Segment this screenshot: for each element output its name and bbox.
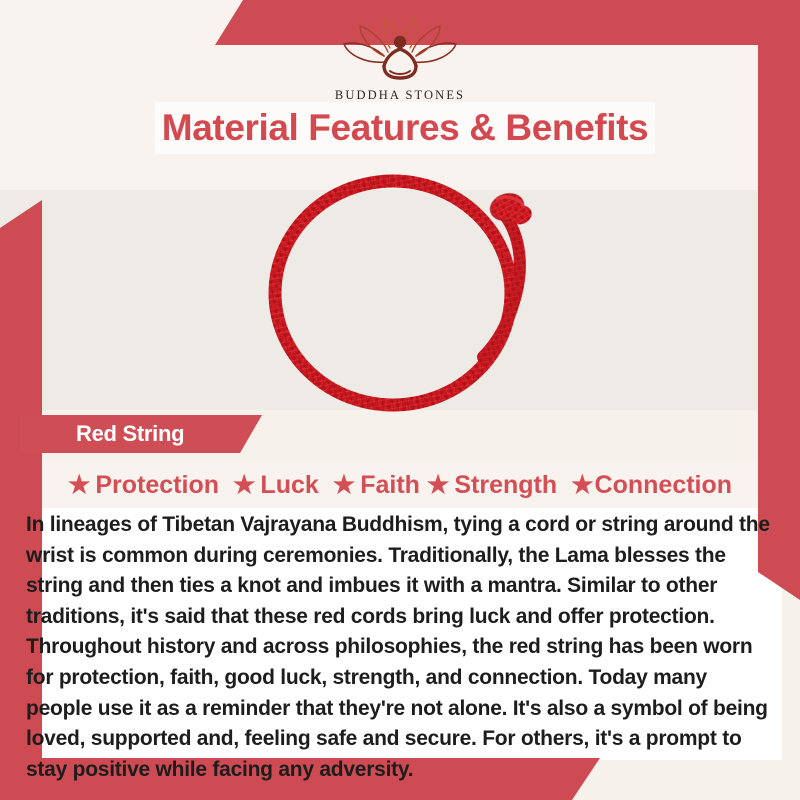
page-title-box: Material Features & Benefits (155, 102, 655, 154)
feature-label: Connection (595, 471, 733, 500)
feature-strength: ★ Strength (427, 471, 557, 500)
feature-label: Luck (260, 471, 318, 500)
star-icon: ★ (571, 473, 593, 498)
red-string-bracelet-illustration (235, 165, 565, 415)
infographic-page: BUDDHA STONES Material Features & Benefi… (0, 0, 800, 800)
feature-faith: ★ Faith (333, 471, 420, 500)
feature-label: Protection (95, 471, 219, 500)
lotus-meditation-icon (330, 14, 470, 86)
feature-luck: ★ Luck (233, 471, 319, 500)
star-icon: ★ (68, 473, 90, 498)
product-subtitle: Red String (20, 421, 184, 447)
feature-connection: ★ Connection (571, 471, 732, 500)
features-list: ★ Protection ★ Luck ★ Faith ★ Strength ★… (42, 462, 758, 508)
feature-protection: ★ Protection (68, 471, 219, 500)
product-image (0, 165, 800, 415)
star-icon: ★ (427, 473, 449, 498)
brand-logo: BUDDHA STONES (0, 14, 800, 103)
feature-label: Strength (454, 471, 557, 500)
description-paragraph: In lineages of Tibetan Vajrayana Buddhis… (26, 510, 776, 785)
feature-label: Faith (360, 471, 420, 500)
star-icon: ★ (233, 473, 255, 498)
page-title: Material Features & Benefits (162, 107, 648, 149)
star-icon: ★ (333, 473, 355, 498)
brand-wordmark: BUDDHA STONES (0, 88, 800, 103)
product-subtitle-banner: Red String (20, 415, 262, 453)
